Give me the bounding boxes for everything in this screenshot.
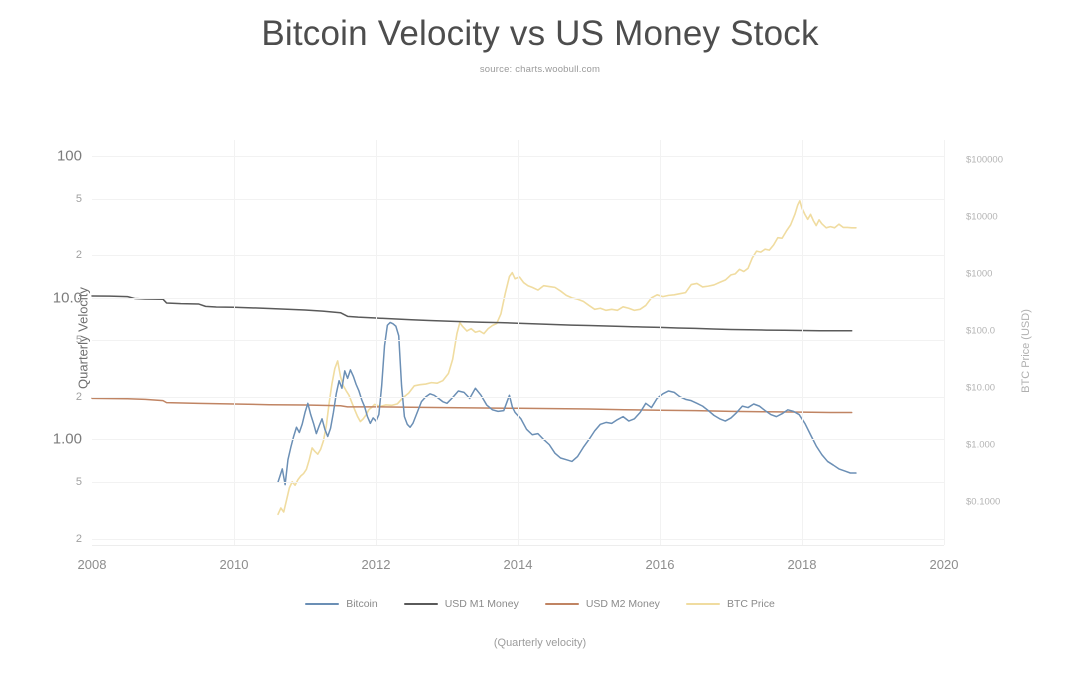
y-axis-tick: 10.0 xyxy=(53,289,82,306)
x-axis-tick: 2014 xyxy=(504,557,533,572)
plot-area: 1005210.0521.0052$100000$10000$1000$100.… xyxy=(92,140,944,545)
x-axis-tick: 2020 xyxy=(930,557,959,572)
x-axis-tick: 2016 xyxy=(646,557,675,572)
legend-swatch-icon xyxy=(686,603,720,605)
legend-label: Bitcoin xyxy=(346,598,378,610)
y-axis-tick: 2 xyxy=(76,391,82,403)
legend-label: USD M2 Money xyxy=(586,598,660,610)
y-axis-tick: 5 xyxy=(76,476,82,488)
x-axis-tick: 2008 xyxy=(78,557,107,572)
gridline-vertical xyxy=(944,140,945,545)
legend-item-usd-m1-money[interactable]: USD M1 Money xyxy=(404,598,519,610)
y-axis-tick: 5 xyxy=(76,193,82,205)
chart-container: Bitcoin Velocity vs US Money Stock sourc… xyxy=(0,0,1080,675)
legend-item-btc-price[interactable]: BTC Price xyxy=(686,598,775,610)
y2-axis-tick: $0.1000 xyxy=(966,497,1000,508)
gridline-vertical xyxy=(518,140,519,545)
y2-axis-tick: $100.0 xyxy=(966,326,995,337)
chart-legend: BitcoinUSD M1 MoneyUSD M2 MoneyBTC Price xyxy=(0,598,1080,610)
gridline-vertical xyxy=(660,140,661,545)
x-axis-tick: 2012 xyxy=(362,557,391,572)
y2-axis-label: BTC Price (USD) xyxy=(1020,309,1032,393)
chart-source: source: charts.woobull.com xyxy=(0,64,1080,75)
y-axis-tick: 1.00 xyxy=(53,431,82,448)
series-line-btc-price xyxy=(278,201,856,515)
series-line-bitcoin xyxy=(278,322,856,484)
legend-label: USD M1 Money xyxy=(445,598,519,610)
gridline-vertical xyxy=(376,140,377,545)
y2-axis-tick: $10000 xyxy=(966,211,998,222)
legend-swatch-icon xyxy=(305,603,339,605)
y2-axis-tick: $1.000 xyxy=(966,440,995,451)
gridline-vertical xyxy=(802,140,803,545)
x-axis-line xyxy=(92,545,944,546)
y-axis-tick: 5 xyxy=(76,334,82,346)
legend-swatch-icon xyxy=(404,603,438,605)
x-axis-tick: 2010 xyxy=(220,557,249,572)
y2-axis-tick: $100000 xyxy=(966,154,1003,165)
series-line-usd-m1-money xyxy=(92,296,852,331)
legend-item-usd-m2-money[interactable]: USD M2 Money xyxy=(545,598,660,610)
y2-axis-tick: $10.00 xyxy=(966,383,995,394)
chart-footer-note: (Quarterly velocity) xyxy=(0,637,1080,649)
x-axis-tick: 2018 xyxy=(788,557,817,572)
y-axis-tick: 2 xyxy=(76,533,82,545)
chart-title: Bitcoin Velocity vs US Money Stock xyxy=(0,14,1080,54)
legend-label: BTC Price xyxy=(727,598,775,610)
y-axis-tick: 100 xyxy=(57,148,82,165)
legend-item-bitcoin[interactable]: Bitcoin xyxy=(305,598,378,610)
legend-swatch-icon xyxy=(545,603,579,605)
y-axis-tick: 2 xyxy=(76,249,82,261)
gridline-vertical xyxy=(234,140,235,545)
y2-axis-tick: $1000 xyxy=(966,268,992,279)
